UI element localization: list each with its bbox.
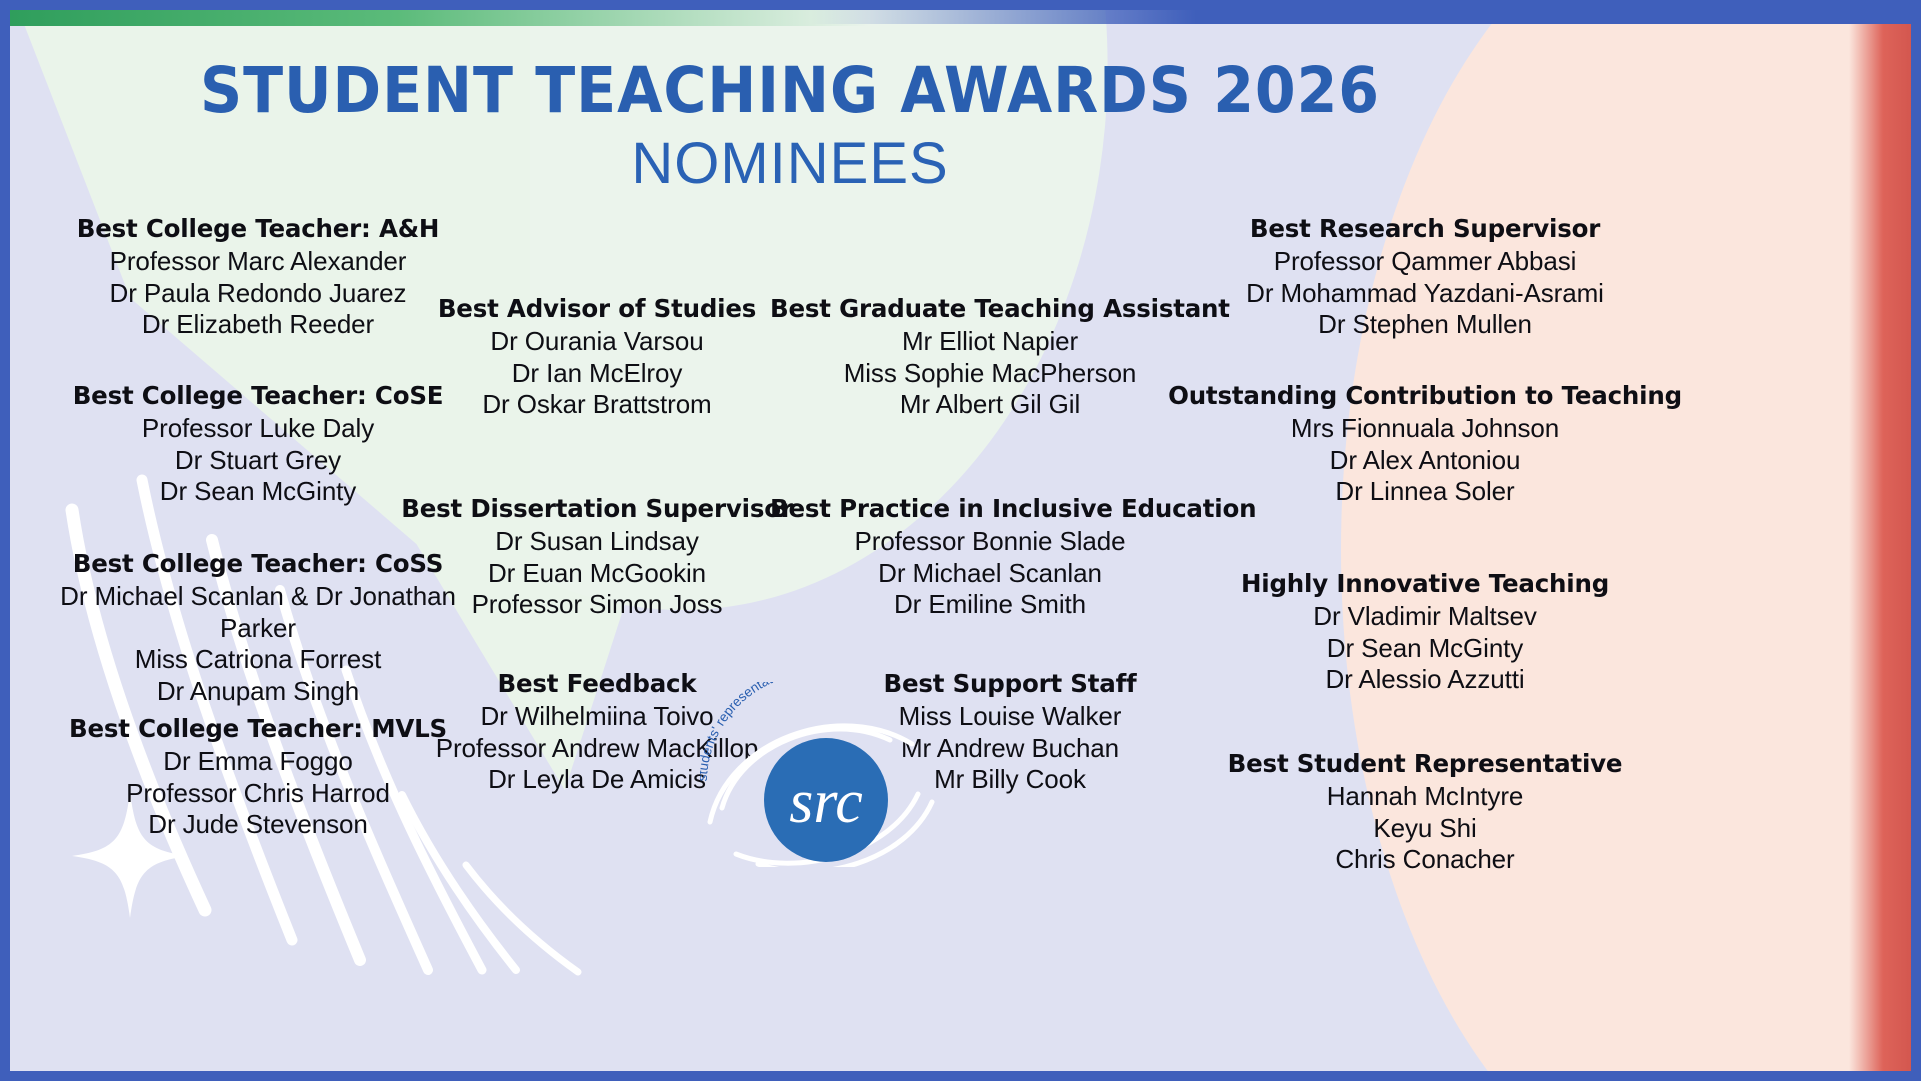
nominee-name: Dr Ian McElroy [382,358,812,390]
award-outstanding-contribution-to-teaching: Outstanding Contribution to Teaching Mrs… [1140,382,1710,508]
nominee-name: Professor Marc Alexander [38,246,478,278]
src-logo: src students' representative council uni… [700,682,950,867]
award-title: Best Dissertation Supervisor [382,495,812,524]
nominee-name: Dr Euan McGookin [382,558,812,590]
poster-title-block: STUDENT TEACHING AWARDS 2026 NOMINEES [10,58,1570,201]
nominee-name: Dr Vladimir Maltsev [1150,601,1700,633]
award-title: Best Student Representative [1150,750,1700,779]
nominee-name: Mrs Fionnuala Johnson [1140,413,1710,445]
nominee-name: Dr Stuart Grey [38,445,478,477]
award-best-advisor-of-studies: Best Advisor of Studies Dr Ourania Varso… [382,295,812,421]
award-title: Best Research Supervisor [1150,215,1700,244]
nominee-name: Dr Ourania Varsou [382,326,812,358]
nominee-name: Mr Elliot Napier [770,326,1210,358]
award-best-student-representative: Best Student Representative Hannah McInt… [1150,750,1700,876]
page-subtitle: NOMINEES [10,128,1570,201]
page-title: STUDENT TEACHING AWARDS 2026 [65,58,1516,124]
src-wordmark: src [789,768,862,836]
award-title: Highly Innovative Teaching [1150,570,1700,599]
poster-canvas: STUDENT TEACHING AWARDS 2026 NOMINEES Be… [0,0,1921,1081]
award-title: Best College Teacher: A&H [38,215,478,244]
nominee-name: Dr Jude Stevenson [38,809,478,841]
blue-top-strip [811,10,1911,24]
poster-inner-frame: STUDENT TEACHING AWARDS 2026 NOMINEES Be… [10,10,1911,1071]
nominee-name: Dr Oskar Brattstrom [382,389,812,421]
nominee-name: Dr Stephen Mullen [1150,309,1700,341]
nominee-name: Dr Sean McGinty [1150,633,1700,665]
nominee-name: Dr Michael Scanlan [770,558,1210,590]
nominee-name: Dr Emiline Smith [770,589,1210,621]
nominee-name: Dr Susan Lindsay [382,526,812,558]
green-top-strip [10,10,870,26]
award-best-research-supervisor: Best Research Supervisor Professor Qamme… [1150,215,1700,341]
award-title: Best Advisor of Studies [382,295,812,324]
nominee-name: Professor Simon Joss [382,589,812,621]
nominee-name: Professor Qammer Abbasi [1150,246,1700,278]
nominee-name: Keyu Shi [1150,813,1700,845]
award-title: Outstanding Contribution to Teaching [1140,382,1710,411]
award-highly-innovative-teaching: Highly Innovative Teaching Dr Vladimir M… [1150,570,1700,696]
nominee-name: Dr Mohammad Yazdani-Asrami [1150,278,1700,310]
award-best-dissertation-supervisor: Best Dissertation Supervisor Dr Susan Li… [382,495,812,621]
coral-edge-bar [1849,10,1911,1071]
award-best-practice-in-inclusive-education: Best Practice in Inclusive Education Pro… [770,495,1210,621]
nominee-name: Dr Alex Antoniou [1140,445,1710,477]
nominee-name: Hannah McIntyre [1150,781,1700,813]
nominee-name: Chris Conacher [1150,844,1700,876]
nominee-name: Dr Linnea Soler [1140,476,1710,508]
nominee-name: Dr Alessio Azzutti [1150,664,1700,696]
nominee-name: Professor Bonnie Slade [770,526,1210,558]
award-title: Best Graduate Teaching Assistant [770,295,1210,324]
